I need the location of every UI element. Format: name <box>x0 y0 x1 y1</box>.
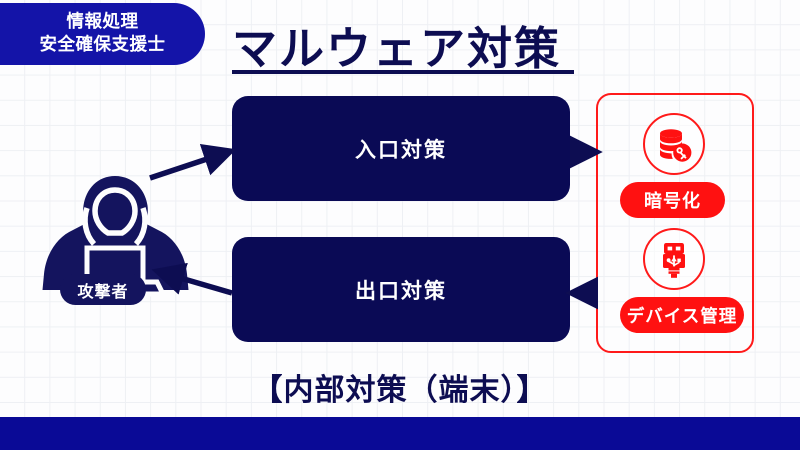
badge-line-2: 安全確保支援士 <box>40 34 166 57</box>
attacker-label: 攻撃者 <box>60 274 146 305</box>
label-device-management[interactable]: デバイス管理 <box>620 297 744 333</box>
badge-line-1: 情報処理 <box>67 11 139 34</box>
box-exit-measures[interactable]: 出口対策 <box>232 237 570 342</box>
slide-canvas: マルウェア対策 情報処理 安全確保支援士 入口対策 出口対策 <box>0 0 800 450</box>
usb-plug-icon <box>643 228 705 290</box>
box-entry-measures[interactable]: 入口対策 <box>232 96 570 201</box>
diagram-caption: 【内部対策（端末）】 <box>0 365 800 409</box>
title-underline <box>232 70 574 74</box>
page-title: マルウェア対策 <box>232 12 561 77</box>
footer-band <box>0 417 800 450</box>
label-encryption[interactable]: 暗号化 <box>620 182 725 218</box>
certification-badge: 情報処理 安全確保支援士 <box>0 3 205 65</box>
database-key-icon <box>643 113 705 175</box>
